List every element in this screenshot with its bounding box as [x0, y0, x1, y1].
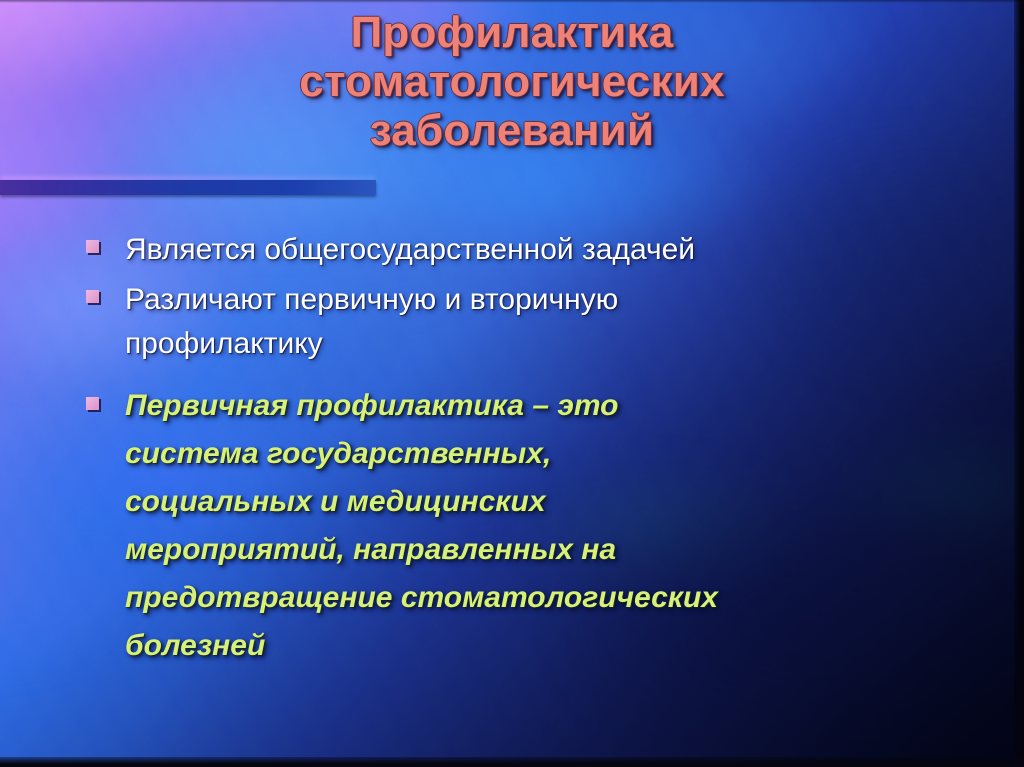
bullet-item-1: Является общегосударственной задачей	[86, 228, 986, 272]
square-bullet-icon	[86, 290, 99, 303]
presentation-slide: Профилактика стоматологических заболеван…	[0, 0, 1024, 767]
bullet-item-2-text: Различают первичную и вторичную профилак…	[125, 278, 986, 366]
bullet-item-1-text: Является общегосударственной задачей	[125, 228, 986, 272]
bullet-item-3-text: Первичная профилактика – это система гос…	[125, 382, 986, 670]
slide-title: Профилактика стоматологических заболеван…	[0, 8, 1024, 155]
slide-edge-bottom	[0, 757, 1024, 767]
slide-bullet-list: Является общегосударственной задачей Раз…	[86, 228, 986, 676]
slide-edge-top	[0, 0, 1024, 3]
title-divider	[0, 176, 376, 198]
square-bullet-icon	[86, 397, 99, 410]
bullet-item-2: Различают первичную и вторичную профилак…	[86, 278, 986, 366]
bullet-item-3: Первичная профилактика – это система гос…	[86, 382, 986, 670]
title-divider-bar	[0, 180, 376, 195]
square-bullet-icon	[86, 240, 99, 253]
